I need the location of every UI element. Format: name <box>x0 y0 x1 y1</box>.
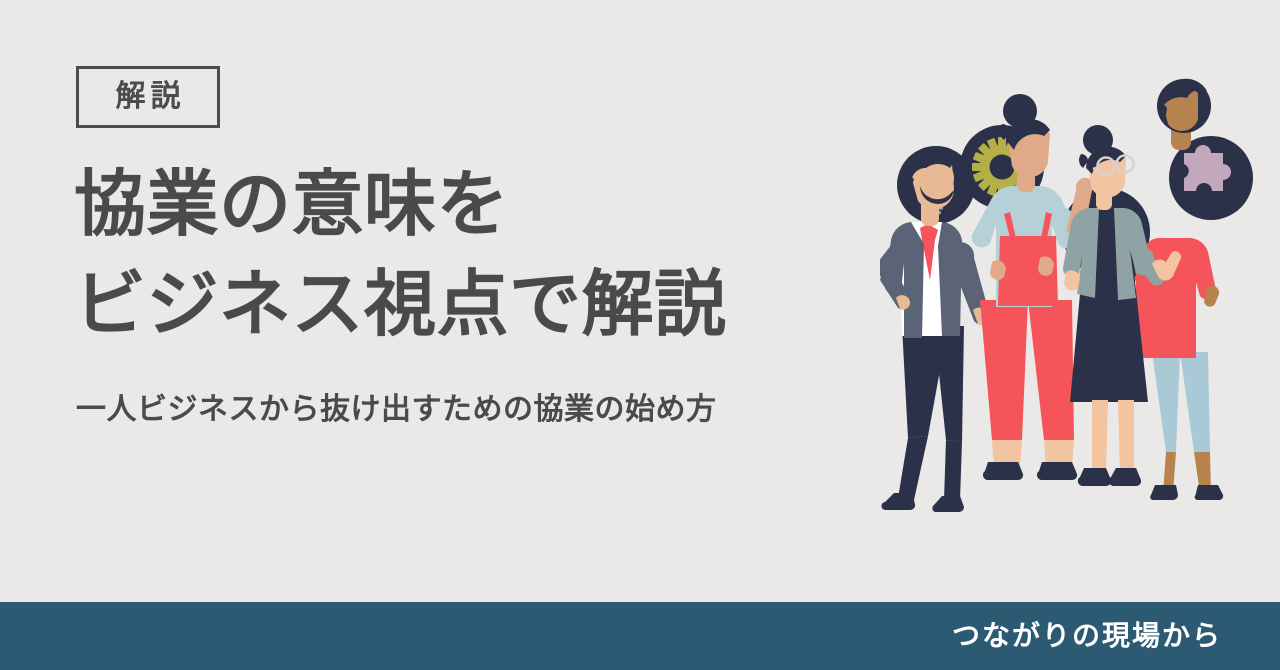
category-badge: 解説 <box>76 66 220 128</box>
text-column: 解説 協業の意味を ビジネス視点で解説 一人ビジネスから抜け出すための協業の始め… <box>0 0 900 602</box>
people-illustration <box>880 0 1280 602</box>
category-badge-label: 解説 <box>111 82 186 112</box>
headline-line-2: ビジネス視点で解説 <box>74 268 894 340</box>
page-subtitle: 一人ビジネスから抜け出すための協業の始め方 <box>76 392 717 428</box>
headline-line-1: 協業の意味を <box>74 168 894 240</box>
banner-root: 解説 協業の意味を ビジネス視点で解説 一人ビジネスから抜け出すための協業の始め… <box>0 0 1280 670</box>
footer-bar: つながりの現場から <box>0 602 1280 670</box>
page-title: 協業の意味を ビジネス視点で解説 <box>74 168 894 340</box>
footer-brand-text: つながりの現場から <box>952 622 1222 650</box>
